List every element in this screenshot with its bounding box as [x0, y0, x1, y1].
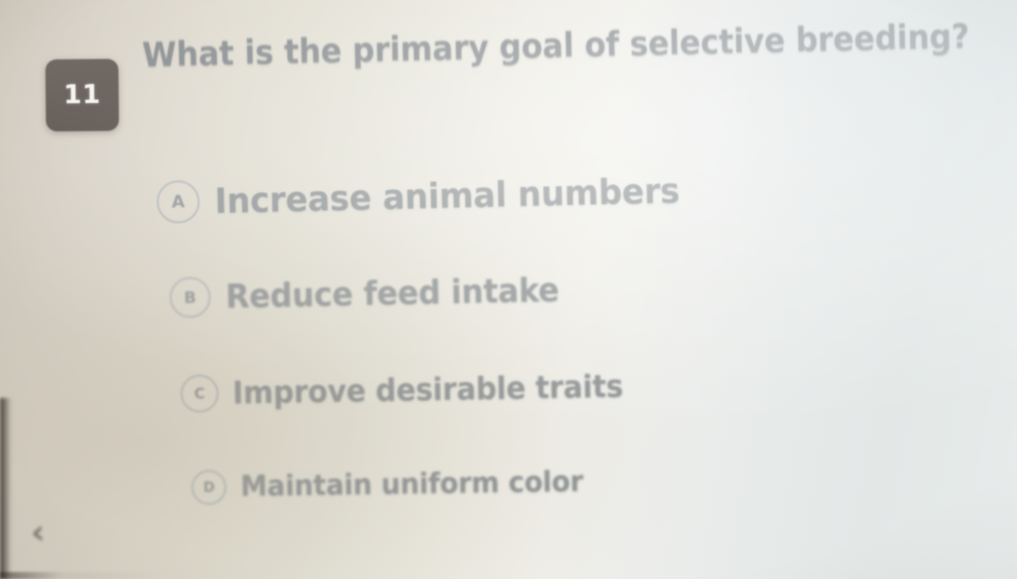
- question-header: 11 What is the primary goal of selective…: [0, 29, 999, 119]
- quiz-screen: 11 What is the primary goal of selective…: [0, 0, 1017, 579]
- option-c-label[interactable]: Improve desirable traits: [232, 368, 623, 411]
- option-b-label[interactable]: Reduce feed intake: [225, 271, 559, 316]
- quiz-content: 11 What is the primary goal of selective…: [0, 0, 1017, 579]
- question-number-badge-label: 11: [45, 59, 119, 132]
- answer-option-a[interactable]: A Increase animal numbers: [156, 169, 680, 224]
- option-d-bubble[interactable]: D: [191, 470, 227, 506]
- question-text: What is the primary goal of selective br…: [142, 17, 963, 75]
- answer-option-b[interactable]: B Reduce feed intake: [169, 270, 559, 319]
- answer-option-d[interactable]: D Maintain uniform color: [191, 464, 583, 505]
- option-b-bubble[interactable]: B: [169, 277, 211, 319]
- chevron-left-icon[interactable]: ‹: [20, 510, 57, 556]
- option-d-label[interactable]: Maintain uniform color: [240, 465, 583, 503]
- option-a-label[interactable]: Increase animal numbers: [214, 170, 680, 222]
- option-c-bubble[interactable]: C: [180, 374, 219, 413]
- answer-option-c[interactable]: C Improve desirable traits: [180, 367, 623, 413]
- option-a-bubble[interactable]: A: [156, 180, 200, 224]
